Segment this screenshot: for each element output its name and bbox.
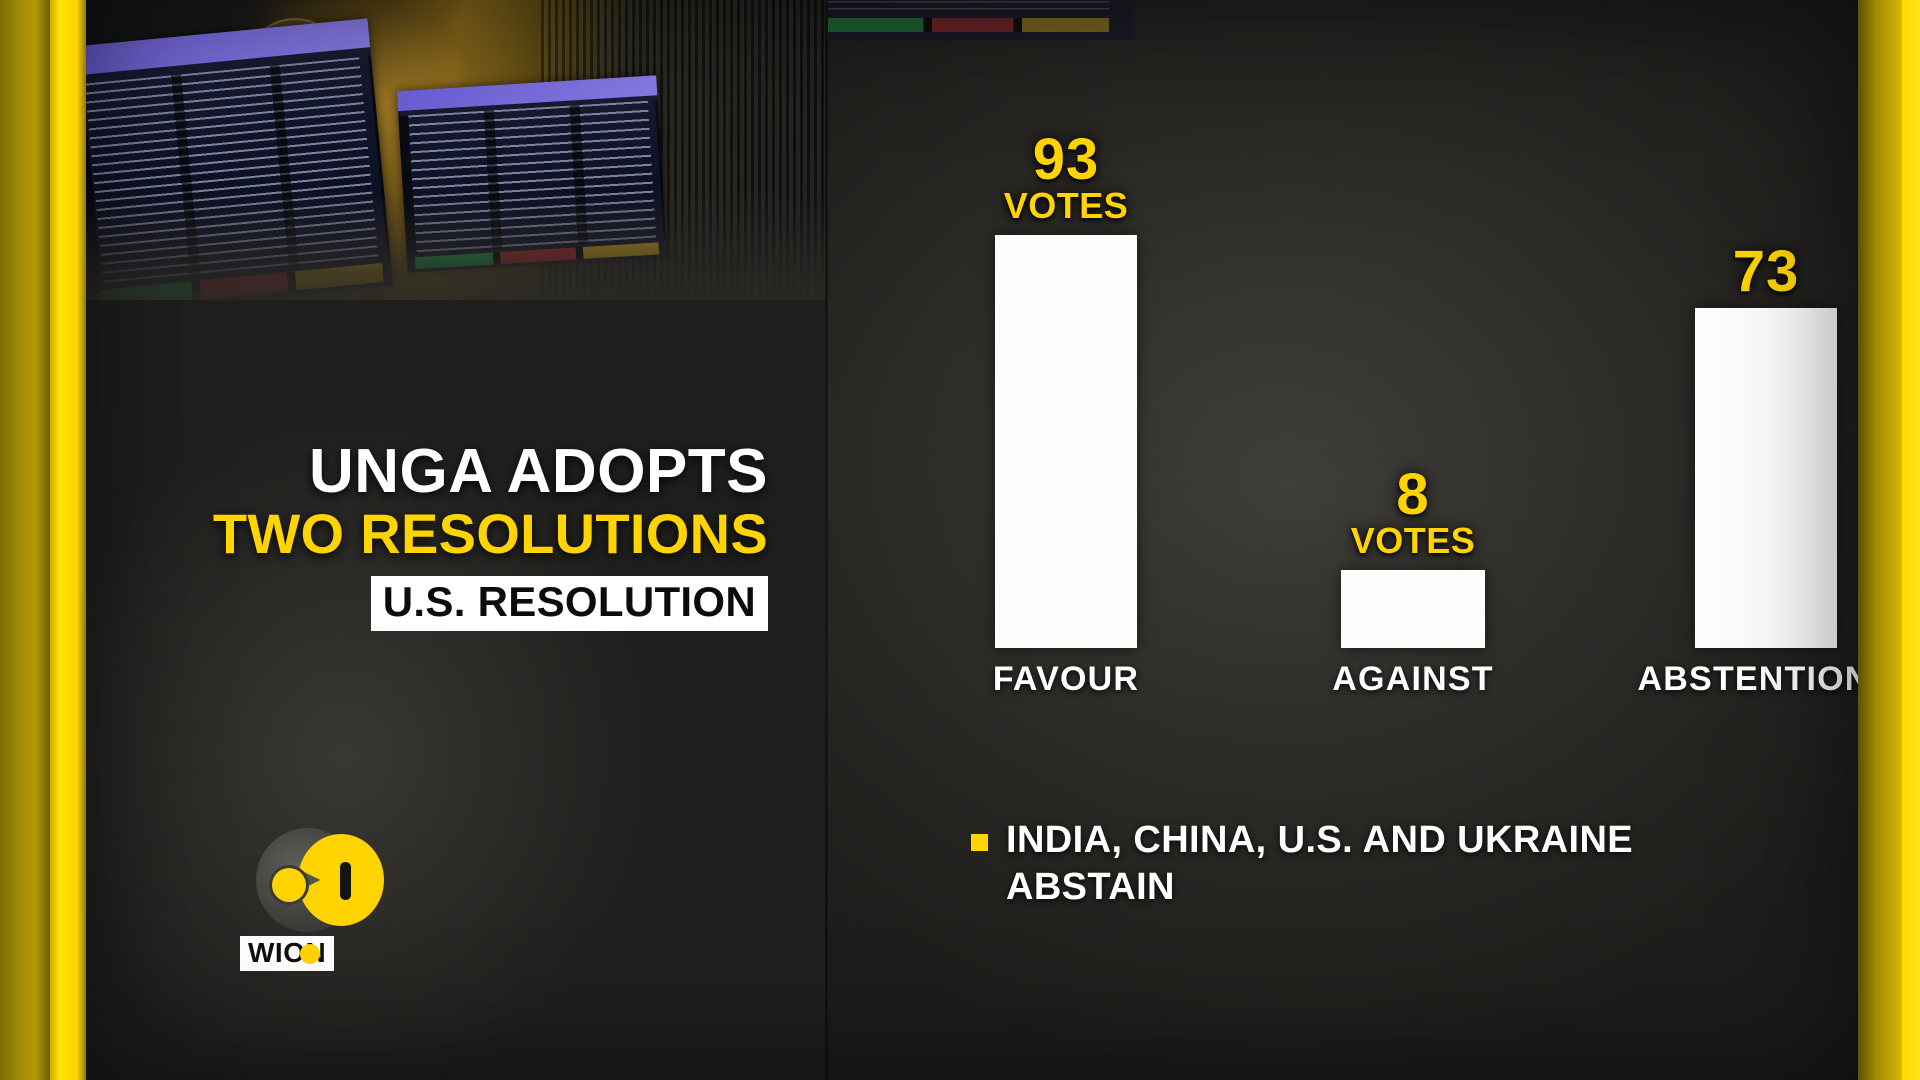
- wion-logo-text-box: WION: [240, 936, 334, 971]
- bar-rect-against: [1341, 570, 1485, 648]
- headline-line-2: TWO RESOLUTIONS: [86, 504, 768, 563]
- bar-value-abstentions: 73: [1733, 244, 1800, 300]
- bar-number-favour: 93: [1004, 132, 1129, 188]
- bar-label-abstentions: ABSTENTIONS: [1638, 660, 1858, 699]
- bar-group-favour: 93 VOTES FAVOUR: [995, 235, 1137, 648]
- bar-number-abstentions: 73: [1733, 244, 1800, 300]
- bar-label-favour: FAVOUR: [993, 660, 1139, 699]
- frame-rail-left-olive: [0, 0, 50, 1080]
- frame-rail-left-bright: [50, 0, 86, 1080]
- left-panel: UNGA ADOPTS TWO RESOLUTIONS U.S. RESOLUT…: [86, 0, 825, 1080]
- wion-logo-dot-icon: [272, 868, 306, 902]
- wion-logo-bar-icon: [340, 862, 351, 900]
- subheadline-box: U.S. RESOLUTION: [371, 576, 768, 631]
- bar-group-abstentions: 73 ABSTENTIONS: [1695, 308, 1837, 648]
- scoreboard-remnant: [825, 0, 1135, 40]
- bar-value-against: 8 VOTES: [1351, 467, 1476, 560]
- content-area: UNGA ADOPTS TWO RESOLUTIONS U.S. RESOLUT…: [86, 0, 1858, 1080]
- photo-fade-overlay: [86, 190, 825, 300]
- subheadline-text: U.S. RESOLUTION: [383, 579, 756, 625]
- bar-unit-against: VOTES: [1351, 522, 1476, 560]
- bullet-note-text: INDIA, CHINA, U.S. AND UKRAINE ABSTAIN: [1006, 817, 1671, 910]
- broadcast-graphic: UNGA ADOPTS TWO RESOLUTIONS U.S. RESOLUT…: [0, 0, 1920, 1080]
- chart-panel: 93 VOTES FAVOUR 8 VOTES AGAINST 73: [825, 0, 1858, 1080]
- bar-value-favour: 93 VOTES: [1004, 132, 1129, 225]
- bar-rect-favour: [995, 235, 1137, 648]
- bar-rect-abstentions: [1695, 308, 1837, 648]
- frame-rail-right-bright: [1902, 0, 1920, 1080]
- wion-logo-mark-icon: [256, 828, 360, 932]
- bar-number-against: 8: [1351, 467, 1476, 523]
- bullet-note: INDIA, CHINA, U.S. AND UKRAINE ABSTAIN: [971, 817, 1671, 910]
- frame-rail-right-olive: [1858, 0, 1902, 1080]
- bar-label-against: AGAINST: [1332, 660, 1493, 699]
- bar-unit-favour: VOTES: [1004, 187, 1129, 225]
- wion-logo-o-dot-icon: [300, 944, 320, 964]
- bar-group-against: 8 VOTES AGAINST: [1341, 570, 1485, 648]
- un-assembly-photo: [86, 0, 825, 300]
- panel-divider: [825, 0, 828, 1080]
- bullet-square-icon: [971, 834, 988, 851]
- wion-logo: WION: [234, 828, 384, 988]
- headline-block: UNGA ADOPTS TWO RESOLUTIONS U.S. RESOLUT…: [86, 440, 796, 631]
- headline-line-1: UNGA ADOPTS: [86, 440, 768, 504]
